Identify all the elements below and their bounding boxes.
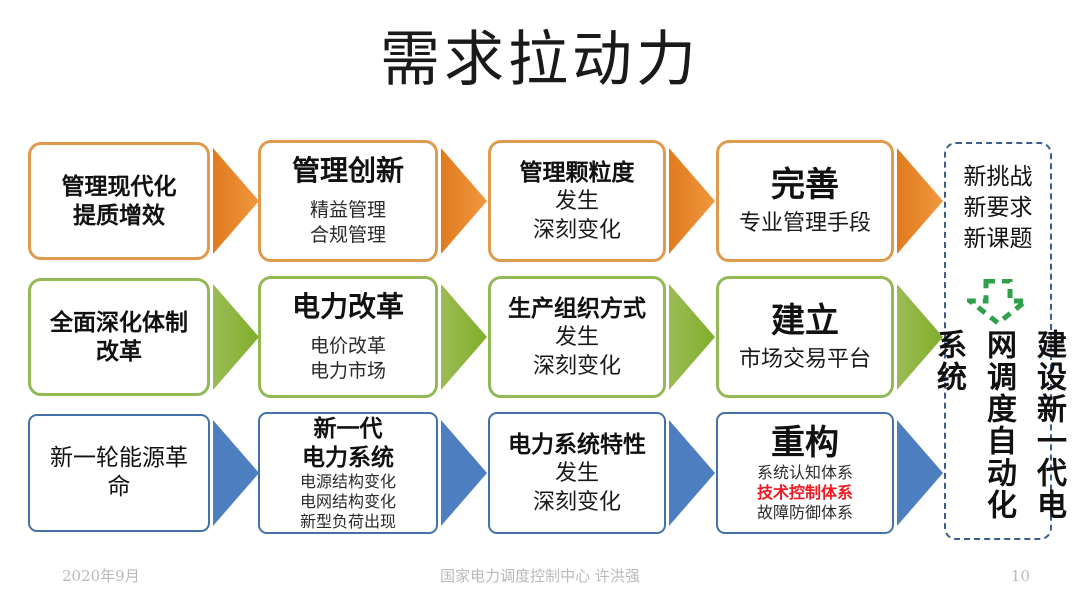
process-box[interactable]: 电力改革 电价改革 电力市场 — [258, 276, 438, 398]
down-arrow-dashed-icon — [967, 279, 1029, 325]
box-plain-line: 发生 — [555, 323, 599, 352]
box-plain-line: 发生 — [555, 187, 599, 216]
box-sub-line: 电价改革 — [310, 334, 386, 359]
page-title: 需求拉动力 — [0, 24, 1080, 96]
process-row-reform: 全面深化体制 改革 电力改革 电价改革 电力市场 生产组织方式 发生 深刻变化 … — [0, 278, 1080, 398]
chevron-right-icon — [669, 148, 715, 254]
box-sub-line: 精益管理 — [310, 198, 386, 223]
process-box[interactable]: 完善 专业管理手段 — [716, 140, 894, 262]
box-sub-line: 电力市场 — [310, 359, 386, 384]
outcome-challenge-line: 新挑战 — [964, 162, 1033, 193]
process-box[interactable]: 管理颗粒度 发生 深刻变化 — [488, 140, 666, 262]
outcome-panel[interactable]: 新挑战 新要求 新课题 建设新一代电网调度自动化系统 — [944, 142, 1052, 540]
box-sub-line: 市场交易平台 — [739, 345, 871, 374]
outcome-challenge-line: 新要求 — [964, 193, 1033, 224]
chevron-right-icon — [441, 148, 487, 254]
process-box[interactable]: 管理现代化 提质增效 — [28, 142, 210, 260]
box-plain-line: 深刻变化 — [533, 488, 621, 517]
footer-page-number: 10 — [1011, 566, 1030, 586]
box-sub-line-highlight: 技术控制体系 — [757, 483, 853, 503]
outcome-challenge-line: 新课题 — [964, 224, 1033, 255]
box-head-line1: 电力改革 — [292, 290, 404, 324]
slide-footer: 2020年9月 国家电力调度控制中心 许洪强 10 — [0, 566, 1080, 594]
box-head-line2: 电力系统 — [302, 443, 394, 472]
process-box[interactable]: 重构 系统认知体系 技术控制体系 故障防御体系 — [716, 412, 894, 534]
box-plain-line: 发生 — [555, 459, 599, 488]
box-sub-line: 新型负荷出现 — [300, 512, 396, 532]
process-box[interactable]: 新一代 电力系统 电源结构变化 电网结构变化 新型负荷出现 — [258, 412, 438, 534]
outcome-goal-text: 建设新一代电网调度自动化系统 — [923, 329, 1073, 538]
box-sub-line: 电源结构变化 — [300, 472, 396, 492]
box-sub-line: 专业管理手段 — [739, 209, 871, 238]
chevron-right-icon — [897, 148, 943, 254]
box-head-line1: 管理颗粒度 — [520, 158, 635, 187]
chevron-right-icon — [213, 420, 259, 526]
box-head-line1: 新一代 — [314, 414, 383, 443]
chevron-right-icon — [669, 284, 715, 390]
box-head-line1: 管理现代化 — [62, 172, 177, 201]
box-head-line1: 全面深化体制 — [50, 308, 188, 337]
box-head-line1: 重构 — [771, 423, 839, 463]
box-sub-line: 系统认知体系 — [757, 463, 853, 483]
footer-center-text: 国家电力调度控制中心 许洪强 — [0, 566, 1080, 586]
box-plain-line: 深刻变化 — [533, 216, 621, 245]
box-head-line1: 建立 — [771, 301, 839, 341]
box-head-line1: 电力系统特性 — [508, 430, 646, 459]
box-head-line2: 改革 — [96, 337, 142, 366]
box-sub-line: 电网结构变化 — [300, 492, 396, 512]
box-head-line1: 完善 — [771, 165, 839, 205]
process-box[interactable]: 新一轮能源革 命 — [28, 414, 210, 532]
process-row-management: 管理现代化 提质增效 管理创新 精益管理 合规管理 管理颗粒度 发生 深刻变化 … — [0, 142, 1080, 262]
process-box[interactable]: 管理创新 精益管理 合规管理 — [258, 140, 438, 262]
box-head-line1: 生产组织方式 — [508, 294, 646, 323]
chevron-right-icon — [213, 284, 259, 390]
outcome-challenges: 新挑战 新要求 新课题 — [964, 162, 1033, 255]
box-head-line1: 新一轮能源革 — [50, 444, 188, 473]
chevron-right-icon — [441, 420, 487, 526]
process-box[interactable]: 全面深化体制 改革 — [28, 278, 210, 396]
box-sub-line: 合规管理 — [310, 223, 386, 248]
box-head-line2: 提质增效 — [73, 201, 165, 230]
chevron-right-icon — [669, 420, 715, 526]
process-box[interactable]: 电力系统特性 发生 深刻变化 — [488, 412, 666, 534]
process-row-energy: 新一轮能源革 命 新一代 电力系统 电源结构变化 电网结构变化 新型负荷出现 电… — [0, 414, 1080, 534]
chevron-right-icon — [213, 148, 259, 254]
box-head-line2: 命 — [108, 473, 131, 502]
process-box[interactable]: 生产组织方式 发生 深刻变化 — [488, 276, 666, 398]
box-sub-line: 故障防御体系 — [757, 503, 853, 523]
chevron-right-icon — [441, 284, 487, 390]
slide-canvas: 需求拉动力 管理现代化 提质增效 管理创新 精益管理 合规管理 管理颗粒度 发生… — [0, 0, 1080, 608]
box-plain-line: 深刻变化 — [533, 352, 621, 381]
box-head-line1: 管理创新 — [292, 154, 404, 188]
process-box[interactable]: 建立 市场交易平台 — [716, 276, 894, 398]
